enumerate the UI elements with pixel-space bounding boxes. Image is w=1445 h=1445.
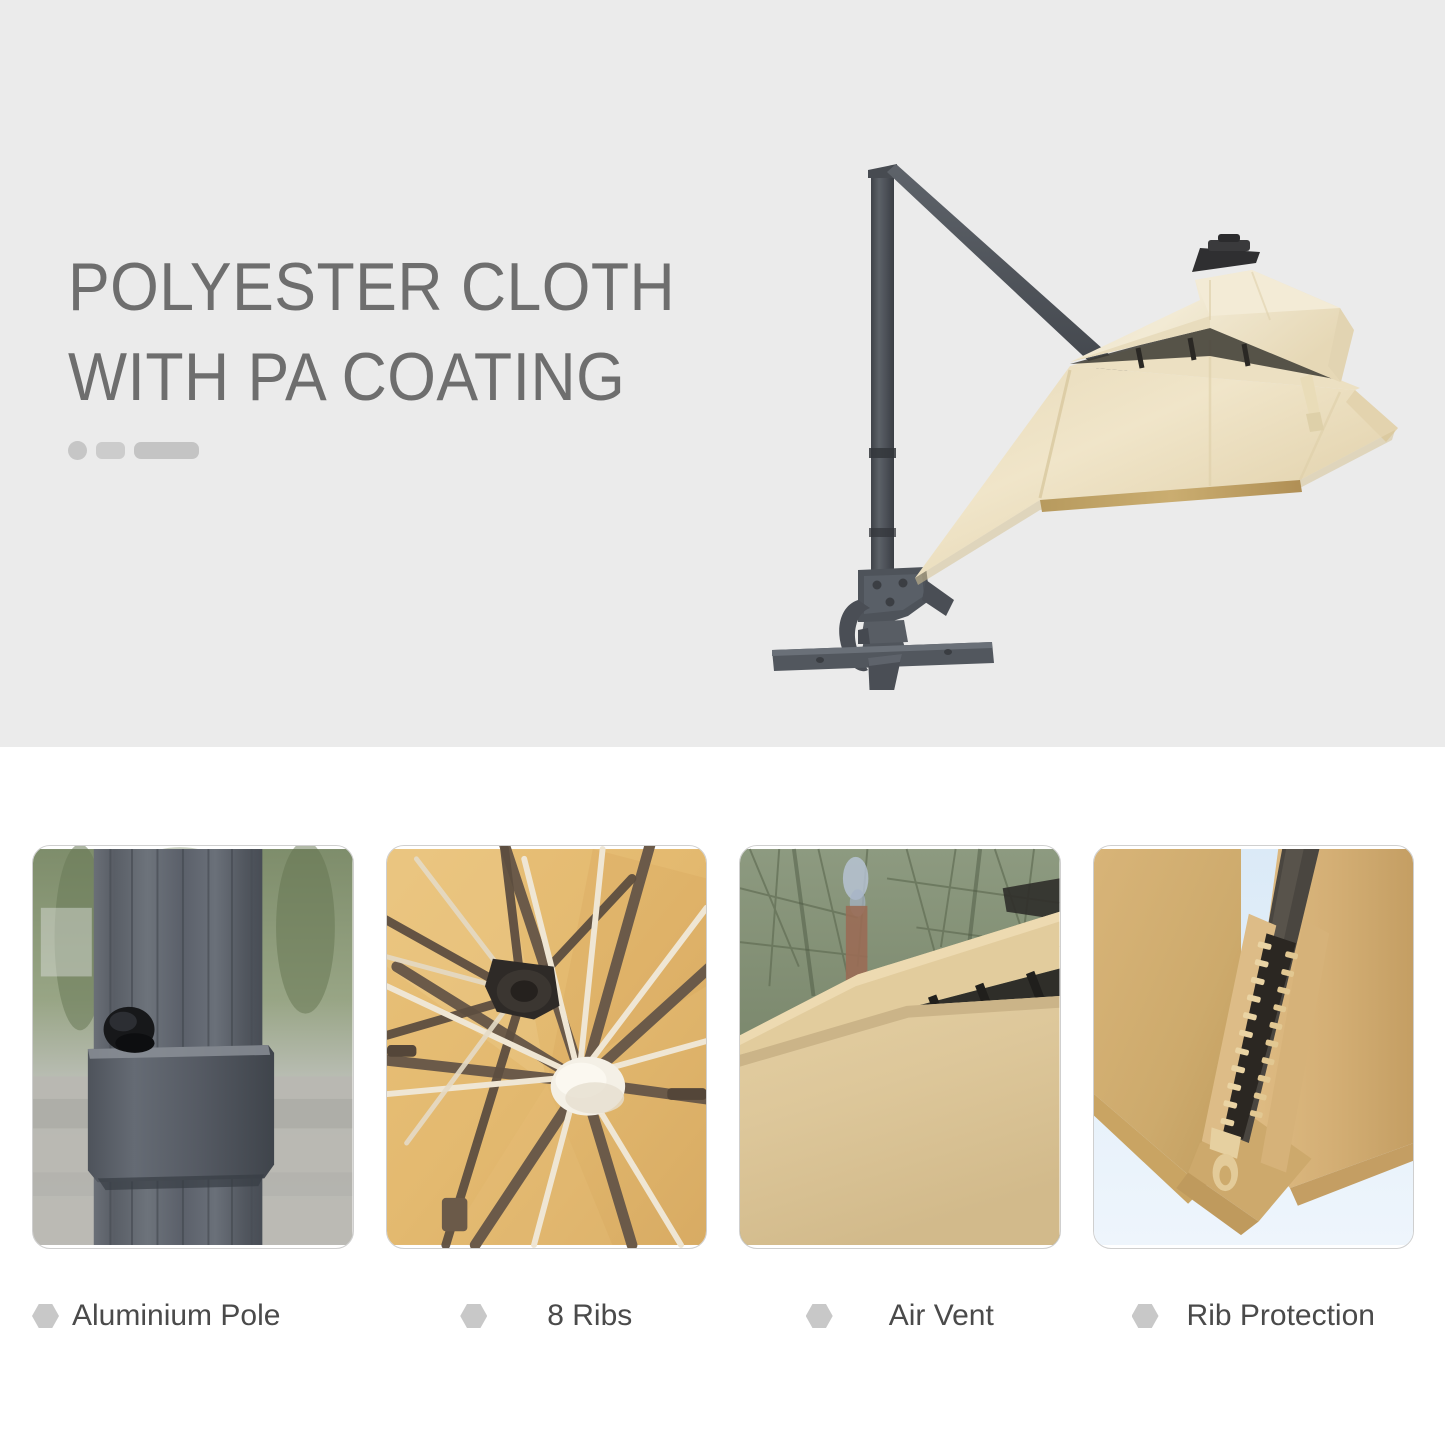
feature-label-text: Aluminium Pole	[72, 1301, 280, 1331]
feature-card-air-vent[interactable]	[739, 845, 1061, 1249]
feature-label-text: 8 Ribs	[547, 1301, 632, 1331]
decorative-bar	[134, 442, 199, 459]
feature-label-row: Aluminium Pole 8 Ribs Air Vent Rib Prote…	[32, 1285, 1414, 1347]
hexagon-bullet-icon	[806, 1304, 833, 1328]
feature-card-rib-protection[interactable]	[1093, 845, 1415, 1249]
photo-8-ribs-underside	[387, 846, 707, 1248]
feature-label-rib-protection: Rib Protection	[1093, 1285, 1415, 1347]
hexagon-bullet-icon	[460, 1304, 487, 1328]
product-feature-page: POLYESTER CLOTH WITH PA COATING	[0, 0, 1445, 1445]
photo-air-vent	[740, 846, 1060, 1248]
feature-label-text: Rib Protection	[1187, 1301, 1375, 1331]
decorative-pill	[96, 442, 125, 459]
feature-card-8-ribs[interactable]	[386, 845, 708, 1249]
page-title: POLYESTER CLOTH WITH PA COATING	[68, 242, 786, 423]
decorative-circle	[68, 441, 87, 460]
hexagon-bullet-icon	[1132, 1304, 1159, 1328]
decorative-marker-group	[68, 441, 199, 460]
feature-label-air-vent: Air Vent	[739, 1285, 1061, 1347]
hexagon-bullet-icon	[32, 1304, 59, 1328]
feature-card-grid	[32, 845, 1414, 1249]
feature-label-text: Air Vent	[889, 1301, 994, 1331]
feature-card-aluminium-pole[interactable]	[32, 845, 354, 1249]
photo-rib-protection-zipper	[1094, 846, 1414, 1248]
feature-label-8-ribs: 8 Ribs	[386, 1285, 708, 1347]
product-image-cantilever-umbrella	[740, 130, 1400, 690]
photo-aluminium-pole	[33, 846, 353, 1248]
hero-panel: POLYESTER CLOTH WITH PA COATING	[0, 0, 1445, 747]
feature-label-aluminium-pole: Aluminium Pole	[32, 1285, 354, 1347]
